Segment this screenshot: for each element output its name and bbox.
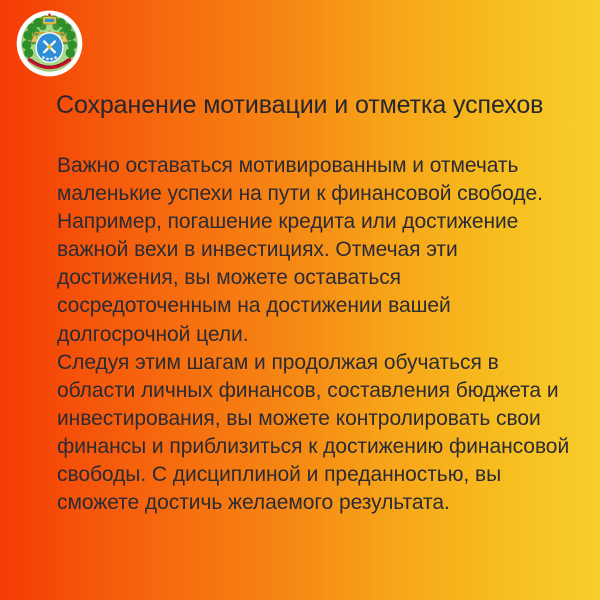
- text-line: Например, погашение кредита или достижен…: [57, 208, 577, 236]
- paragraph-1: Важно оставаться мотивированным и отмеча…: [57, 152, 577, 349]
- slide-canvas: Сохранение мотивации и отметка успехов В…: [0, 0, 600, 600]
- paragraph-2: Следуя этим шагам и продолжая обучаться …: [57, 349, 577, 518]
- slide-body-text: Важно оставаться мотивированным и отмеча…: [57, 152, 577, 517]
- organization-emblem-icon: [16, 10, 83, 77]
- text-line: свободы. С дисциплиной и преданностью, в…: [57, 461, 577, 489]
- text-line: Важно оставаться мотивированным и отмеча…: [57, 152, 577, 180]
- text-line: важной вехи в инвестициях. Отмечая эти: [57, 236, 577, 264]
- text-line: сосредоточенным на достижении вашей: [57, 292, 577, 320]
- slide-title: Сохранение мотивации и отметка успехов: [56, 90, 596, 121]
- text-line: инвестирования, вы можете контролировать…: [57, 405, 577, 433]
- text-line: достижения, вы можете оставаться: [57, 264, 577, 292]
- text-line: долгосрочной цели.: [57, 321, 577, 349]
- text-line: Следуя этим шагам и продолжая обучаться …: [57, 349, 577, 377]
- text-line: области личных финансов, составления бюд…: [57, 377, 577, 405]
- text-line: сможете достичь желаемого результата.: [57, 489, 577, 517]
- text-line: финансы и приблизиться к достижению фина…: [57, 433, 577, 461]
- text-line: маленькие успехи на пути к финансовой св…: [57, 180, 577, 208]
